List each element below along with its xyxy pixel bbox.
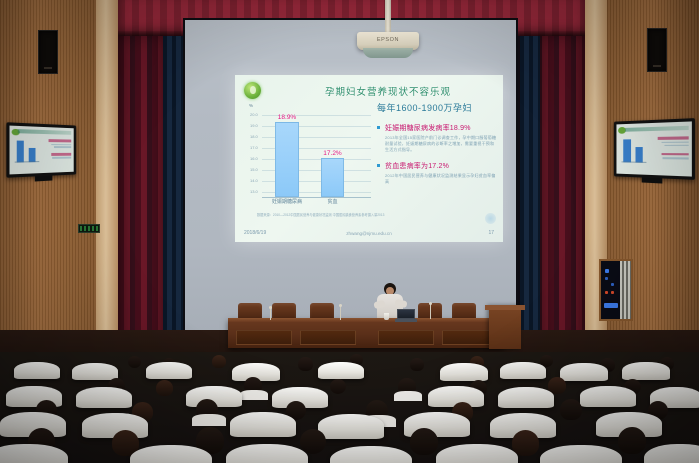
slide-page-number: 17: [488, 230, 494, 236]
table-microphone: [270, 308, 271, 320]
slide-source-note: 数据来源：2010—2012中国居民营养与健康状况监测 中国居民膳食营养素参考摄…: [257, 212, 384, 217]
chart-ytick: 16.0: [250, 156, 258, 161]
projector-mount-pole: [385, 0, 391, 34]
audience-area: [0, 352, 699, 463]
mon-bar: [623, 139, 631, 162]
bullet-heading: 贫血患病率为17.2%: [385, 161, 497, 171]
mon-stand-left: [34, 176, 52, 182]
table-microphone: [430, 304, 431, 319]
mon-bar: [28, 148, 35, 162]
projector-brand-label: EPSON: [357, 37, 419, 43]
chart-ylabel: %: [249, 103, 253, 108]
projector-lens: [363, 48, 413, 58]
side-display-right: [614, 118, 695, 180]
bullet-detail: 2012年中国居民营养与健康状况监测结果显示孕妇贫血率偏高: [385, 173, 497, 185]
control-panel-vent: [620, 261, 631, 319]
stage-curtain-right: [537, 30, 585, 352]
chart-bar-category: 妊娠期糖尿病: [272, 198, 302, 205]
head-table: [228, 318, 504, 348]
chart-ytick: 15.0: [250, 167, 258, 172]
slide-email: zhwang@njmu.edu.cn: [346, 231, 392, 236]
presentation-slide: 孕期妇女营养现状不容乐观 % 20.0 19.0 18.0 17.0: [235, 75, 503, 242]
lecture-hall-photo: 孕期妇女营养现状不容乐观 % 20.0 19.0 18.0 17.0: [0, 0, 699, 463]
wall-speaker-right: [647, 28, 667, 72]
chart-ytick: 19.0: [250, 123, 258, 128]
mon-bar: [17, 140, 25, 162]
slide-headline: 每年1600-1900万孕妇: [377, 101, 497, 114]
projection-screen: 孕期妇女营养现状不容乐观 % 20.0 19.0 18.0 17.0: [183, 18, 518, 333]
chart-ytick: 18.0: [250, 134, 258, 139]
presenter-laptop[interactable]: [395, 309, 417, 322]
mon-bar: [635, 147, 643, 162]
chart-ytick: 13.0: [250, 189, 258, 194]
slide-footer: 数据来源：2010—2012中国居民营养与健康状况监测 中国居民膳食营养素参考摄…: [235, 212, 503, 238]
chart-bar: 17.2% 贫血: [321, 158, 344, 197]
side-display-left: [6, 122, 76, 178]
inner-curtain-left: [163, 30, 183, 352]
chart-ytick: 14.0: [250, 178, 258, 183]
exit-indicator-sign: [78, 224, 100, 233]
slide-bullet: 贫血患病率为17.2% 2012年中国居民营养与健康状况监测结果显示孕妇贫血率偏…: [377, 161, 497, 185]
pilaster-right: [585, 0, 607, 380]
chart-ytick: 20.0: [250, 112, 258, 117]
chart-bar-category: 贫血: [327, 198, 337, 205]
chart-bar: 18.9% 妊娠期糖尿病: [275, 122, 299, 197]
slide-bullet: 妊娠期糖尿病发病率18.9% 2013年全国15家医院产前门诊调查工作，孕中期口…: [377, 123, 497, 152]
stage-curtain-left: [118, 30, 166, 352]
bar-chart: % 20.0 19.0 18.0 17.0 16.0 15.0 14.0: [249, 105, 371, 215]
slide-text-column: 每年1600-1900万孕妇 妊娠期糖尿病发病率18.9% 2013年全国15家…: [377, 101, 497, 185]
table-microphone: [340, 306, 341, 320]
chart-bar-value: 18.9%: [278, 114, 296, 121]
bullet-heading: 妊娠期糖尿病发病率18.9%: [385, 123, 497, 133]
slide-date: 2018/6/19: [244, 230, 266, 236]
slide-watermark-icon: [485, 213, 496, 224]
chart-ytick: 17.0: [250, 145, 258, 150]
av-control-panel[interactable]: [599, 259, 633, 321]
slide-logo-icon: [244, 82, 261, 99]
mon-title-band: [18, 129, 71, 135]
mon-title-band: [625, 125, 689, 132]
inner-curtain-right: [520, 30, 540, 352]
water-cup: [384, 313, 389, 320]
wall-speaker-left: [38, 30, 58, 74]
lectern: [489, 305, 521, 349]
pilaster-left: [96, 0, 118, 380]
chart-bar-value: 17.2%: [323, 150, 341, 157]
slide-title: 孕期妇女营养现状不容乐观: [283, 84, 493, 98]
bullet-detail: 2013年全国15家医院产前门诊调查工作，孕中期口服葡萄糖耐量试验，妊娠期糖尿病…: [385, 135, 497, 152]
mon-stand-right: [642, 178, 663, 184]
